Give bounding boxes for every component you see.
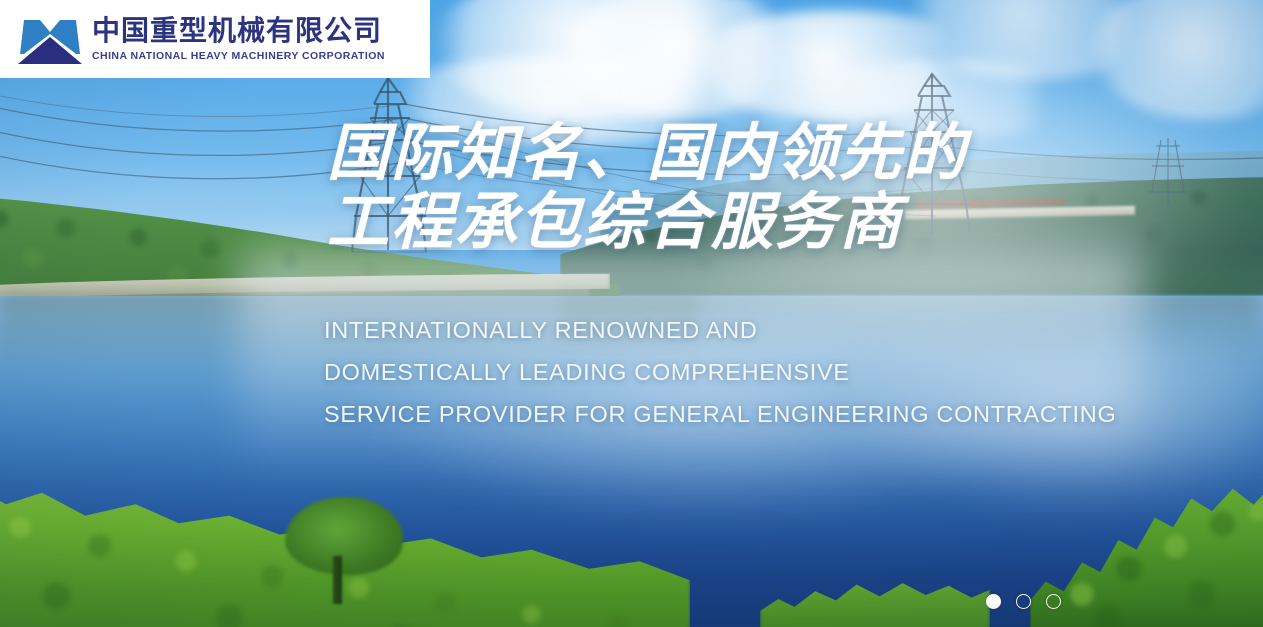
brand-logo-text: 中国重型机械有限公司 CHINA NATIONAL HEAVY MACHINER…	[92, 16, 385, 62]
subhead-line-2: DOMESTICALLY LEADING COMPREHENSIVE	[324, 352, 1116, 394]
carousel-pagination	[986, 594, 1061, 609]
foreground-tree-trunk	[333, 556, 342, 604]
hero-headline: 国际知名、国内领先的 工程承包综合服务商	[327, 118, 967, 257]
brand-logo-plate[interactable]: 中国重型机械有限公司 CHINA NATIONAL HEAVY MACHINER…	[0, 0, 430, 78]
brand-name-cn: 中国重型机械有限公司	[92, 16, 385, 47]
headline-line-1: 国际知名、国内领先的	[327, 118, 967, 187]
headline-line-2: 工程承包综合服务商	[327, 187, 967, 256]
carousel-dot-1[interactable]	[986, 594, 1001, 609]
brand-name-en: CHINA NATIONAL HEAVY MACHINERY CORPORATI…	[92, 50, 385, 63]
subhead-line-1: INTERNATIONALLY RENOWNED AND	[324, 310, 1116, 352]
carousel-dot-3[interactable]	[1046, 594, 1061, 609]
hero-banner: 中国重型机械有限公司 CHINA NATIONAL HEAVY MACHINER…	[0, 0, 1263, 627]
foreground-tree-canopy	[285, 497, 403, 575]
mountain-logo-icon	[14, 10, 86, 68]
carousel-dot-2[interactable]	[1016, 594, 1031, 609]
hero-subheading: INTERNATIONALLY RENOWNED AND DOMESTICALL…	[324, 310, 1116, 435]
subhead-line-3: SERVICE PROVIDER FOR GENERAL ENGINEERING…	[324, 394, 1116, 436]
